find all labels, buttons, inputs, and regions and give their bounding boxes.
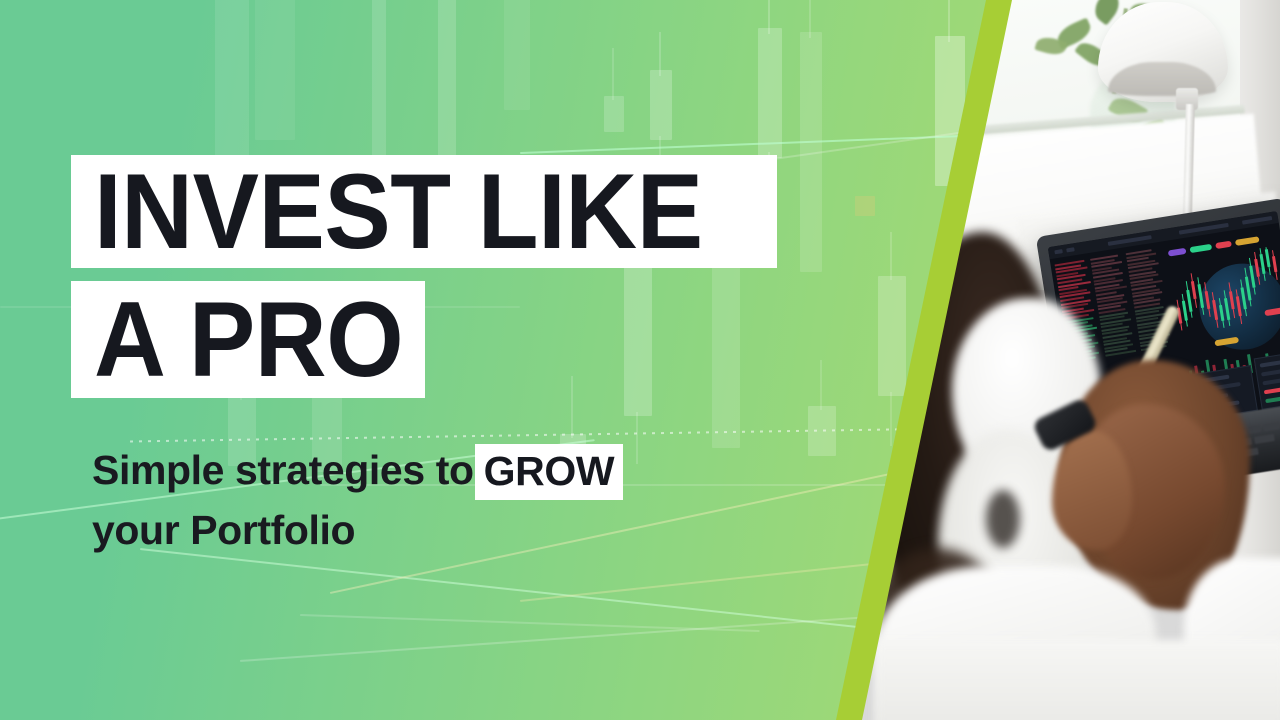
headline-line-1: INVEST LIKE — [94, 165, 703, 257]
subtitle-line-2: your Portfolio — [92, 510, 355, 551]
headline-line-1-box: INVEST LIKE — [71, 155, 777, 268]
terminal-panel — [1254, 352, 1280, 410]
desk-surface — [876, 640, 1280, 720]
subtitle-highlight-grow: GROW — [475, 444, 624, 500]
chair-cutout — [986, 490, 1020, 548]
headline-line-2-box: A PRO — [71, 281, 425, 398]
subtitle-line-1: Simple strategies toGROW — [92, 450, 623, 491]
subtitle-prefix: Simple strategies to — [92, 447, 474, 493]
banner-canvas: INVEST LIKE A PRO Simple strategies toGR… — [0, 0, 1280, 720]
headline-line-2: A PRO — [94, 293, 403, 385]
